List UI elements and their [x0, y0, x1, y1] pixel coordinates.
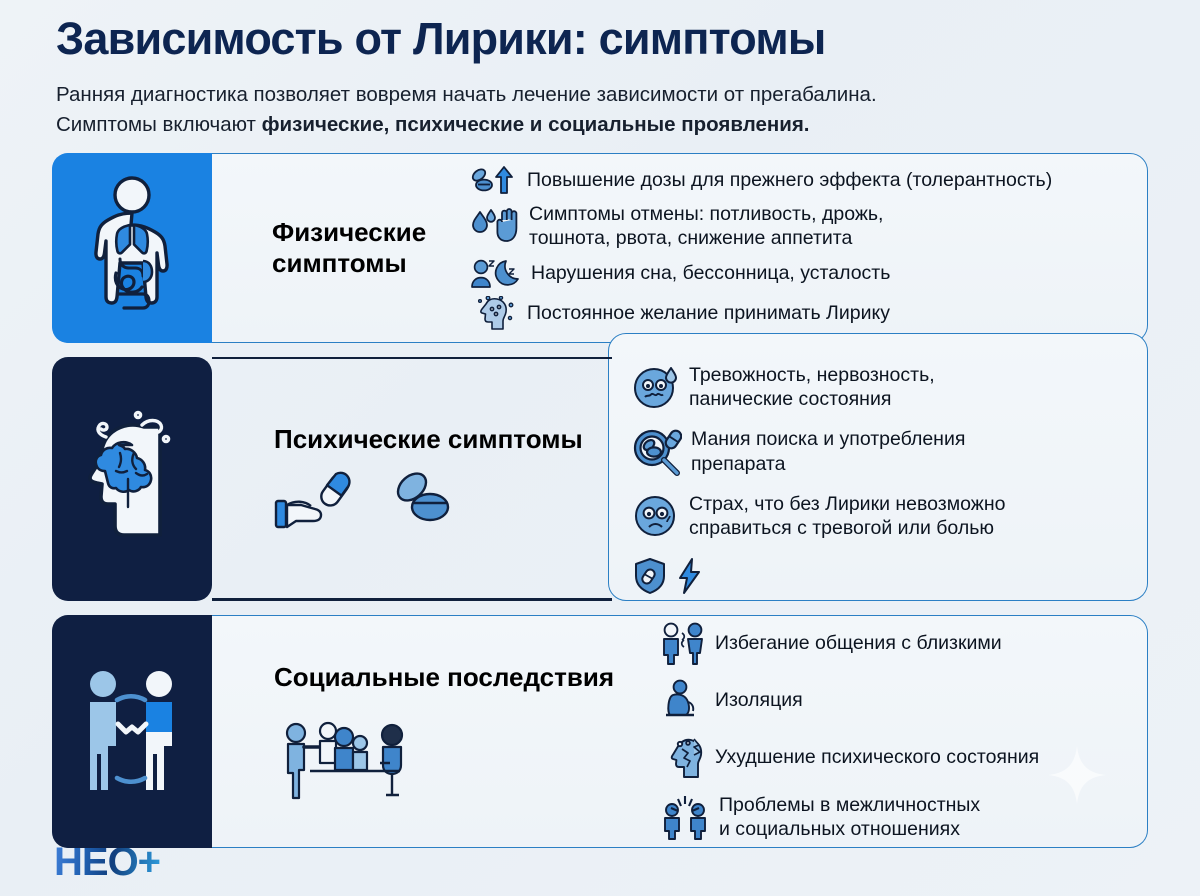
pills-up-arrow-icon [470, 165, 518, 195]
card-title-mental: Психические симптомы [274, 424, 594, 455]
craving-head-icon [470, 296, 518, 330]
sweat-drops-hand-icon [470, 206, 520, 246]
symptom-list-social: Избегание общения с близкими Изоляция [652, 621, 1148, 842]
cards-container: Физические симптомы Повышение дозы для п… [0, 139, 1200, 848]
head-brain-icon [80, 409, 184, 549]
logo-text: НЕО+ [54, 842, 160, 882]
list-item: Изоляция [660, 679, 1132, 721]
card-body-mental: Психические симптомы [212, 357, 1148, 601]
human-body-organs-icon [86, 173, 178, 323]
card-badge-mental [52, 357, 212, 601]
card-badge-social [52, 615, 212, 848]
list-item-text: Ухудшение психического состояния [715, 745, 1039, 769]
anxious-face-icon [632, 363, 680, 411]
hand-pill-icon [274, 471, 370, 533]
list-item-text: Постоянное желание принимать Лирику [527, 301, 890, 325]
lightning-icon [677, 557, 703, 595]
list-item: Симптомы отмены: потливость, дрожь, тошн… [470, 202, 1132, 251]
list-item: Избегание общения с близкими [660, 621, 1132, 665]
subtitle-line-2-prefix: Симптомы включают [56, 113, 262, 136]
list-item-text: Нарушения сна, бессонница, усталость [531, 261, 890, 285]
pills-cluster-icon [388, 471, 466, 533]
sleep-moon-icon [470, 257, 522, 289]
card-decoration-mental [274, 471, 594, 533]
symptom-list-physical: Повышение дозы для прежнего эффекта (тол… [462, 165, 1148, 331]
page-header: Зависимость от Лирики: симптомы Ранняя д… [0, 0, 1200, 139]
group-exclusion-icon [280, 715, 426, 801]
list-item: Ухудшение психического состояния [660, 735, 1132, 779]
list-item-text: Мания поиска и употребления препарата [691, 427, 965, 476]
worried-face-icon [632, 494, 680, 538]
card-physical-symptoms: Физические симптомы Повышение дозы для п… [52, 153, 1148, 343]
two-people-handshake-icon [77, 666, 187, 796]
avoid-people-icon [660, 621, 706, 665]
broken-mind-icon [660, 735, 706, 779]
list-item: Постоянное желание принимать Лирику [470, 296, 1132, 330]
list-item-text: Изоляция [715, 688, 803, 712]
card-mental-symptoms: Психические симптомы [52, 357, 1148, 601]
symptom-list-mental: Тревожность, нервозность, панические сос… [612, 363, 1148, 595]
list-item-text: Симптомы отмены: потливость, дрожь, тошн… [529, 202, 883, 251]
card-decoration-social [274, 715, 634, 801]
page-title: Зависимость от Лирики: симптомы [56, 14, 1144, 64]
list-item: Тревожность, нервозность, панические сос… [632, 363, 1132, 412]
list-item-text: Избегание общения с близкими [715, 631, 1002, 655]
list-item: Нарушения сна, бессонница, усталость [470, 257, 1132, 289]
card-title-physical: Физические симптомы [272, 217, 444, 278]
list-item-text: Повышение дозы для прежнего эффекта (тол… [527, 168, 1052, 192]
list-item: Страх, что без Лирики невозможно справит… [632, 492, 1132, 541]
card-title-social: Социальные последствия [274, 662, 634, 693]
list-item: Проблемы в межличностных и социальных от… [660, 793, 1132, 842]
card-badge-physical [52, 153, 212, 343]
list-item-text: Проблемы в межличностных и социальных от… [719, 793, 980, 842]
subtitle-line-1: Ранняя диагностика позволяет вовремя нач… [56, 83, 877, 106]
sitting-alone-icon [660, 679, 706, 721]
card-heading-social: Социальные последствия [212, 662, 652, 801]
page-subtitle: Ранняя диагностика позволяет вовремя нач… [56, 80, 1144, 138]
card-social-consequences: Социальные последствия [52, 615, 1148, 848]
magnifier-pills-icon [632, 428, 682, 476]
subtitle-line-2-bold: физические, психические и социальные про… [262, 113, 810, 136]
list-item-text: Страх, что без Лирики невозможно справит… [689, 492, 1005, 541]
list-item: Повышение дозы для прежнего эффекта (тол… [470, 165, 1132, 195]
card-heading-physical: Физические симптомы [212, 217, 462, 278]
card-body-social: Социальные последствия [212, 615, 1148, 848]
card-heading-mental: Психические симптомы [212, 424, 612, 533]
card-body-physical: Физические симптомы Повышение дозы для п… [212, 153, 1148, 343]
shield-pill-icon [634, 557, 668, 595]
conflict-people-icon [660, 794, 710, 840]
list-item-text: Тревожность, нервозность, панические сос… [689, 363, 935, 412]
footer-logo: НЕО+ [54, 842, 160, 882]
list-item: Мания поиска и употребления препарата [632, 427, 1132, 476]
extra-icon-row [632, 557, 1132, 595]
